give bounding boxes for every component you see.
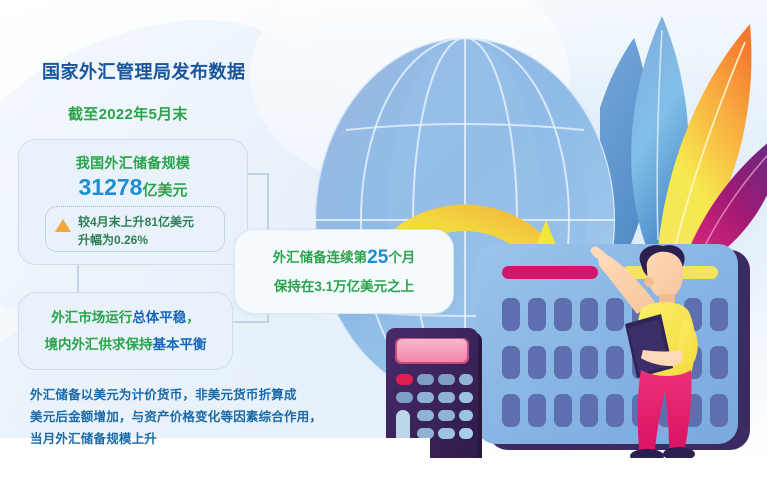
streak-line1: 外汇储备连续第25个月 — [235, 246, 453, 269]
card-reserve-scale: 我国外汇储备规模 31278亿美元 较4月末上升81亿美元 升幅为0.26% — [18, 139, 248, 265]
market-line1-highlight: 总体平稳 — [132, 310, 186, 325]
infographic-canvas: 国家外汇管理局发布数据 截至2022年5月末 我国外汇储备规模 31278亿美元… — [0, 0, 767, 484]
market-line2: 境内外汇供求保持基本平衡 — [19, 333, 232, 353]
market-line2-highlight: 基本平衡 — [153, 337, 207, 352]
footnote-line1: 外汇储备以美元为计价货币，非美元货币折算成 — [30, 384, 360, 406]
reserve-unit: 亿美元 — [142, 182, 187, 199]
reserve-delta-box: 较4月末上升81亿美元 升幅为0.26% — [45, 206, 225, 252]
market-line1: 外汇市场运行总体平稳， — [19, 306, 232, 326]
streak-prefix: 外汇储备连续第 — [273, 250, 368, 265]
streak-number: 25 — [367, 247, 388, 268]
streak-suffix: 个月 — [388, 250, 415, 265]
market-line1-prefix: 外汇市场运行 — [51, 310, 132, 325]
card-market-stability: 外汇市场运行总体平稳， 境内外汇供求保持基本平衡 — [18, 292, 233, 370]
reserve-number: 31278 — [79, 174, 143, 200]
person-pointing-illustration — [585, 240, 715, 470]
footnote-line3: 当月外汇储备规模上升 — [30, 428, 360, 450]
market-line1-suffix: ， — [186, 310, 200, 325]
reserve-label: 我国外汇储备规模 — [19, 153, 247, 173]
reserve-value: 31278亿美元 — [19, 174, 247, 201]
page-subtitle: 截至2022年5月末 — [68, 103, 188, 124]
streak-line2: 保持在3.1万亿美元之上 — [235, 275, 453, 295]
reserve-delta-line2: 升幅为0.26% — [78, 231, 148, 248]
up-triangle-icon — [55, 219, 71, 232]
page-title: 国家外汇管理局发布数据 — [42, 58, 246, 84]
market-line2-prefix: 境内外汇供求保持 — [45, 337, 153, 352]
reserve-delta-line1: 较4月末上升81亿美元 — [78, 213, 194, 230]
footnote-line2: 美元后金额增加，与资产价格变化等因素综合作用， — [30, 406, 360, 428]
card-streak: 外汇储备连续第25个月 保持在3.1万亿美元之上 — [234, 229, 454, 314]
footnote: 外汇储备以美元为计价货币，非美元货币折算成 美元后金额增加，与资产价格变化等因素… — [30, 384, 360, 450]
